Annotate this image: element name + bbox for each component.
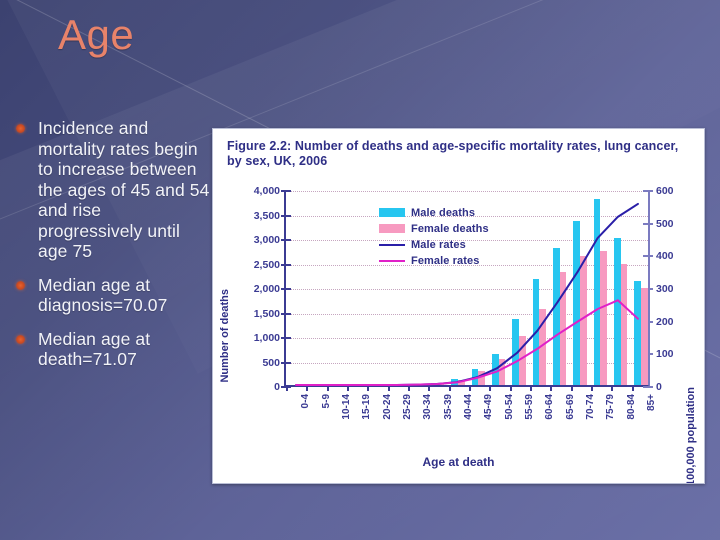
chart-image-panel: Figure 2.2: Number of deaths and age-spe… — [212, 128, 705, 484]
x-axis-tick-label: 85+ — [646, 394, 657, 411]
x-axis-tick-label: 45-49 — [483, 394, 494, 420]
x-axis-tick-label: 10-14 — [341, 394, 352, 420]
bullet-dot-icon — [16, 281, 25, 290]
legend-swatch-male-deaths — [379, 208, 405, 217]
y-axis-tick-right: 0 — [656, 381, 662, 393]
bullet-text: Incidence and mortality rates begin to i… — [38, 118, 209, 261]
y-axis-tick-left: 1,000 — [236, 332, 280, 344]
y-axis-tick-left: 0 — [236, 381, 280, 393]
legend-line-female-rates — [379, 260, 405, 262]
bullet-dot-icon — [16, 335, 25, 344]
y-axis-tick-left: 500 — [236, 357, 280, 369]
y-axis-label-left: Number of deaths — [219, 289, 231, 383]
slide-title: Age — [58, 12, 134, 58]
x-axis-tick-label: 70-74 — [585, 394, 596, 420]
x-axis-label: Age at death — [213, 455, 704, 469]
x-axis-tickmark — [510, 385, 512, 391]
x-axis-tick-label: 30-34 — [422, 394, 433, 420]
x-axis-tickmark — [530, 385, 532, 391]
list-item: Incidence and mortality rates begin to i… — [14, 118, 210, 262]
legend-label: Male deaths — [411, 207, 475, 219]
x-axis-tick-label: 75-79 — [605, 394, 616, 420]
y-axis-tick-left: 4,000 — [236, 185, 280, 197]
x-axis-tick-label: 40-44 — [463, 394, 474, 420]
x-axis-tick-label: 35-39 — [443, 394, 454, 420]
chart-legend: Male deaths Female deaths Male rates Fem… — [379, 205, 489, 269]
y-axis-tick-right: 500 — [656, 218, 674, 230]
legend-label: Female deaths — [411, 223, 489, 235]
y-axis-tick-left: 3,500 — [236, 210, 280, 222]
x-axis-tick-label: 5-9 — [321, 394, 332, 408]
bullet-text: Median age at diagnosis=70.07 — [38, 275, 167, 316]
legend-line-male-rates — [379, 244, 405, 246]
y-axis-tick-right: 100 — [656, 348, 674, 360]
x-axis-tickmark — [286, 385, 288, 391]
legend-item-female-rates: Female rates — [379, 253, 489, 268]
x-axis-tickmark — [632, 385, 634, 391]
list-item: Median age at death=71.07 — [14, 329, 210, 370]
legend-label: Female rates — [411, 255, 479, 267]
x-axis-tick-label: 25-29 — [402, 394, 413, 420]
y-axis-tick-right: 600 — [656, 185, 674, 197]
legend-label: Male rates — [411, 239, 466, 251]
x-axis-tick-label: 55-59 — [524, 394, 535, 420]
line-female-rates — [296, 300, 638, 385]
x-axis-tick-label: 65-69 — [565, 394, 576, 420]
bullet-text: Median age at death=71.07 — [38, 329, 150, 370]
x-axis-tickmark — [489, 385, 491, 391]
y-axis-label-right: Rate per 100,000 population — [685, 387, 697, 484]
x-axis-tickmark — [449, 385, 451, 391]
slide: Age Incidence and mortality rates begin … — [0, 0, 720, 540]
y-axis-tickmark-right — [643, 386, 653, 388]
x-axis-tick-label: 0-4 — [300, 394, 311, 408]
x-axis-tickmark — [571, 385, 573, 391]
y-axis-tick-left: 1,500 — [236, 308, 280, 320]
x-axis-tick-label: 80-84 — [626, 394, 637, 420]
x-axis-tick-label: 15-19 — [361, 394, 372, 420]
legend-item-male-deaths: Male deaths — [379, 205, 489, 220]
y-axis-tick-left: 2,500 — [236, 259, 280, 271]
x-axis-tickmark — [591, 385, 593, 391]
x-axis-tickmark — [611, 385, 613, 391]
plot-area-wrapper: Number of deaths Rate per 100,000 popula… — [213, 181, 704, 483]
x-axis-tick-label: 50-54 — [504, 394, 515, 420]
x-axis-tickmark — [469, 385, 471, 391]
legend-item-male-rates: Male rates — [379, 237, 489, 252]
y-axis-tick-right: 200 — [656, 316, 674, 328]
x-axis-tick-label: 20-24 — [382, 394, 393, 420]
y-axis-tick-right: 300 — [656, 283, 674, 295]
y-axis-tick-right: 400 — [656, 250, 674, 262]
plot-area: 05001,0001,5002,0002,5003,0003,5004,000 … — [284, 191, 650, 387]
x-axis-tickmark — [550, 385, 552, 391]
x-axis-tickmark — [408, 385, 410, 391]
bullet-dot-icon — [16, 124, 25, 133]
list-item: Median age at diagnosis=70.07 — [14, 275, 210, 316]
legend-item-female-deaths: Female deaths — [379, 221, 489, 236]
x-axis-tickmark — [428, 385, 430, 391]
y-axis-tick-left: 2,000 — [236, 283, 280, 295]
legend-swatch-female-deaths — [379, 224, 405, 233]
y-axis-tick-left: 3,000 — [236, 234, 280, 246]
x-axis-tick-label: 60-64 — [544, 394, 555, 420]
chart-title: Figure 2.2: Number of deaths and age-spe… — [227, 139, 679, 169]
bullet-list: Incidence and mortality rates begin to i… — [14, 118, 210, 383]
